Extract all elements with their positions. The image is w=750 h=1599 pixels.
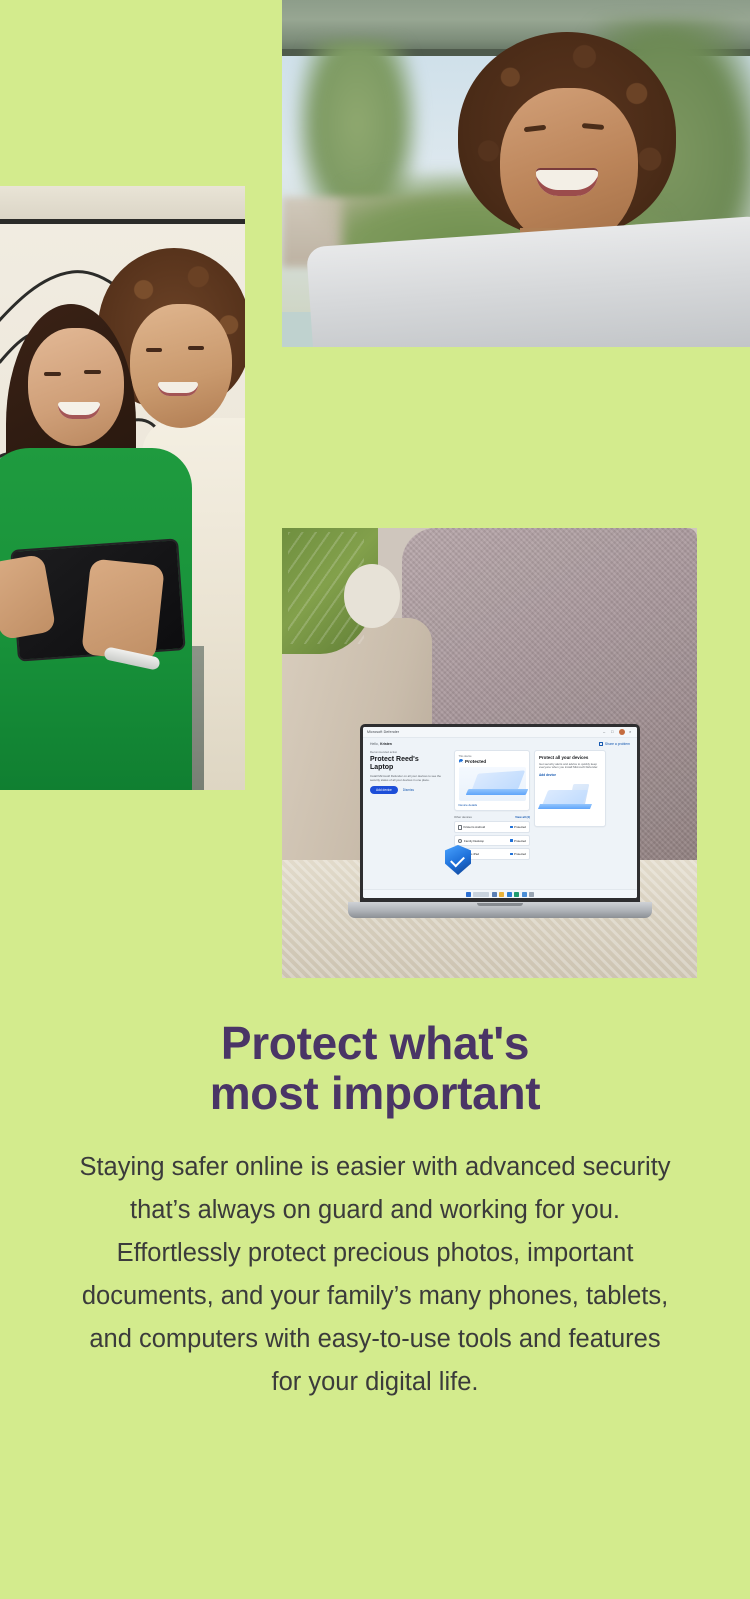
close-icon[interactable]: ×	[629, 730, 633, 734]
dismiss-link[interactable]: Dismiss	[403, 788, 414, 792]
status-square-icon	[510, 826, 513, 829]
page-root: Microsoft Defender – □ × Hello, Kristen	[0, 0, 750, 1599]
shield-check-icon	[459, 759, 464, 764]
edge-icon[interactable]	[507, 892, 512, 897]
man-face	[130, 304, 232, 428]
headline-line-2: most important	[210, 1067, 541, 1119]
status-square-icon	[510, 839, 513, 842]
laptop-device: Microsoft Defender – □ × Hello, Kristen	[360, 724, 640, 920]
photo-couple-with-tablet	[0, 186, 245, 790]
store-icon[interactable]	[514, 892, 519, 897]
app-titlebar: Microsoft Defender – □ ×	[363, 727, 637, 738]
protect-all-body: Get security alerts and advice to quickl…	[539, 763, 601, 771]
man-eye-left	[146, 348, 162, 352]
app-body: Recommended action Protect Reed's Laptop…	[363, 748, 637, 862]
mail-icon[interactable]	[522, 892, 527, 897]
this-device-eyebrow: This device	[459, 755, 526, 758]
protection-status-label: Protected	[465, 759, 486, 764]
defender-app-screen: Microsoft Defender – □ × Hello, Kristen	[363, 727, 637, 898]
panel-title-line2: Laptop	[370, 764, 450, 772]
view-all-devices-link[interactable]: View all (4)	[515, 815, 530, 819]
protect-all-title: Protect all your devices	[539, 755, 601, 760]
status-square-icon	[510, 853, 513, 856]
man-smile	[536, 168, 598, 196]
woman-smile	[58, 402, 100, 419]
photo-laptop-on-sofa: Microsoft Defender – □ × Hello, Kristen	[282, 528, 697, 978]
man-eye-right	[188, 346, 204, 350]
device-list-item[interactable]: Kristen's Android Protected	[454, 821, 530, 833]
hand-right	[81, 558, 165, 661]
explorer-icon[interactable]	[499, 892, 504, 897]
plant-pot	[344, 564, 400, 628]
other-devices-header: Other devices View all (4)	[454, 815, 530, 819]
hero-body-text: Staying safer online is easier with adva…	[75, 1146, 675, 1404]
device-status: Protected	[510, 852, 526, 856]
device-details-link[interactable]: Device details	[459, 803, 526, 807]
laptop-base	[348, 902, 652, 918]
other-devices-label: Other devices	[454, 815, 472, 819]
phone-icon	[458, 825, 462, 830]
widgets-icon[interactable]	[492, 892, 497, 897]
account-avatar-icon[interactable]	[619, 729, 625, 735]
shield-badge-icon	[445, 845, 471, 875]
device-status-label: Protected	[514, 852, 526, 856]
protection-status: Protected	[459, 759, 526, 764]
device-name: Kristen's Android	[464, 825, 486, 829]
ceiling-band	[0, 186, 245, 224]
windows-taskbar	[363, 889, 637, 898]
device-status-label: Protected	[514, 825, 526, 829]
share-problem-link[interactable]: Share a problem	[599, 742, 630, 746]
device-status: Protected	[510, 839, 526, 843]
this-device-panel: This device Protected Device details	[454, 750, 530, 862]
defender-icon[interactable]	[529, 892, 534, 897]
device-name: Family Desktop	[464, 839, 484, 843]
panel-title-line1: Protect Reed's	[370, 756, 450, 764]
devices-illustration	[539, 782, 601, 822]
recommended-action-panel: Recommended action Protect Reed's Laptop…	[370, 750, 450, 862]
start-icon[interactable]	[466, 892, 471, 897]
feedback-icon	[599, 742, 603, 746]
add-device-button[interactable]: Add device	[370, 786, 398, 794]
desktop-icon	[458, 839, 462, 843]
hero-text-block: Protect what's most important Staying sa…	[0, 1018, 750, 1404]
device-status: Protected	[510, 825, 526, 829]
panel-blurb: Install Microsoft Defender on all your d…	[370, 774, 450, 782]
laptop-lid: Microsoft Defender – □ × Hello, Kristen	[360, 724, 640, 904]
headline-line-1: Protect what's	[221, 1017, 529, 1069]
device-list-item[interactable]: Family Desktop Protected	[454, 835, 530, 846]
man-smile	[158, 382, 198, 396]
photo-man-with-laptop	[282, 0, 750, 347]
share-problem-label: Share a problem	[605, 742, 630, 746]
panel-eyebrow: Recommended action	[370, 750, 450, 754]
app-header: Hello, Kristen Share a problem	[363, 738, 637, 748]
device-illustration	[459, 767, 526, 801]
protect-all-devices-panel: Protect all your devices Get security al…	[534, 750, 606, 862]
greeting-name: Kristen	[380, 742, 392, 746]
illustration-base	[465, 789, 528, 795]
protect-all-add-device-link[interactable]: Add device	[539, 773, 601, 777]
this-device-card: This device Protected Device details	[454, 750, 530, 811]
woman-eye-left	[44, 372, 61, 376]
panel-title: Protect Reed's Laptop	[370, 756, 450, 772]
panel-actions: Add device Dismiss	[370, 786, 450, 794]
page-title: Protect what's most important	[0, 1018, 750, 1118]
device-status-label: Protected	[514, 839, 526, 843]
woman-eye-right	[84, 370, 101, 374]
restore-icon[interactable]: □	[611, 730, 615, 734]
search-icon[interactable]	[473, 892, 489, 897]
app-window-title: Microsoft Defender	[367, 730, 399, 734]
minimize-icon[interactable]: –	[603, 730, 607, 734]
greeting-prefix: Hello,	[370, 742, 379, 746]
woman-face	[28, 328, 124, 446]
illustration-laptop-base	[538, 804, 592, 809]
